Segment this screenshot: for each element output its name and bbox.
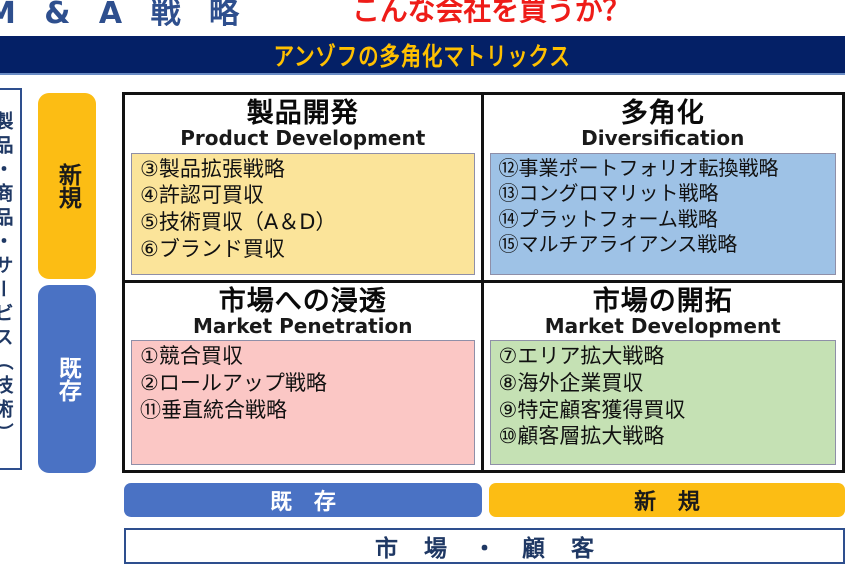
quadrant-title-en: Product Development [180, 128, 425, 150]
list-item: ⑭プラットフォーム戦略 [499, 207, 832, 232]
list-item: ⑦エリア拡大戦略 [499, 343, 832, 370]
quadrant-strategy-list: ⑦エリア拡大戦略 ⑧海外企業買収 ⑨特定顧客獲得買収 ⑩顧客層拡大戦略 [490, 340, 837, 465]
row-pill-existing-label: 既存 [55, 356, 80, 402]
quadrant-market-development: 市場の開拓 Market Development ⑦エリア拡大戦略 ⑧海外企業買… [484, 283, 843, 471]
quadrant-strategy-list: ①競合買収 ②ロールアップ戦略 ⑪垂直統合戦略 [131, 340, 475, 465]
list-item: ⑬コングロマリット戦略 [499, 181, 832, 206]
quadrant-title-jp: 市場の開拓 [593, 287, 733, 317]
list-item: ⑧海外企業買収 [499, 370, 832, 397]
slide-title-main: M & A 戦 略 [0, 0, 248, 32]
y-axis-label-text: 製品・商品・サービス（技術） [0, 111, 12, 447]
quadrant-market-penetration: 市場への浸透 Market Penetration ①競合買収 ②ロールアップ戦… [125, 283, 484, 471]
row-pill-new-label: 新規 [55, 163, 80, 209]
header-band: アンゾフの多角化マトリックス [0, 36, 845, 75]
row-pill-new: 新規 [38, 93, 96, 279]
y-axis-label-box: 製品・商品・サービス（技術） [0, 88, 22, 470]
row-pill-existing: 既存 [38, 285, 96, 473]
list-item: ③製品拡張戦略 [140, 156, 470, 183]
quadrant-title-en: Market Penetration [193, 316, 412, 338]
header-band-title: アンゾフの多角化マトリックス [274, 37, 571, 73]
quadrant-diversification: 多角化 Diversification ⑫事業ポートフォリオ転換戦略 ⑬コングロ… [484, 95, 843, 283]
quadrant-title-jp: 製品開発 [247, 99, 359, 129]
ansoff-matrix: 製品開発 Product Development ③製品拡張戦略 ④許認可買収 … [122, 92, 845, 473]
x-axis-label-box: 市 場 ・ 顧 客 [124, 528, 845, 564]
list-item: ⑪垂直統合戦略 [140, 397, 470, 424]
quadrant-strategy-list: ⑫事業ポートフォリオ転換戦略 ⑬コングロマリット戦略 ⑭プラットフォーム戦略 ⑮… [490, 153, 837, 275]
list-item: ⑨特定顧客獲得買収 [499, 397, 832, 424]
list-item: ①競合買収 [140, 343, 470, 370]
quadrant-title-jp: 多角化 [621, 99, 705, 129]
list-item: ⑮マルチアライアンス戦略 [499, 232, 832, 257]
quadrant-title-jp: 市場への浸透 [219, 287, 387, 317]
list-item: ②ロールアップ戦略 [140, 370, 470, 397]
col-pill-existing: 既 存 [124, 483, 482, 517]
x-axis-label-text: 市 場 ・ 顧 客 [366, 529, 603, 563]
quadrant-product-development: 製品開発 Product Development ③製品拡張戦略 ④許認可買収 … [125, 95, 484, 283]
list-item: ⑩顧客層拡大戦略 [499, 423, 832, 450]
quadrant-strategy-list: ③製品拡張戦略 ④許認可買収 ⑤技術買収（A＆D） ⑥ブランド買収 [131, 153, 475, 275]
slide-title-row: M & A 戦 略 こんな会社を買うか？ [0, 0, 845, 34]
list-item: ⑥ブランド買収 [140, 236, 470, 263]
col-pill-new: 新 規 [489, 483, 845, 517]
slide-title-sub: こんな会社を買うか？ [352, 0, 630, 29]
list-item: ④許認可買収 [140, 182, 470, 209]
quadrant-title-en: Diversification [581, 128, 744, 150]
list-item: ⑤技術買収（A＆D） [140, 209, 470, 236]
quadrant-title-en: Market Development [545, 316, 781, 338]
list-item: ⑫事業ポートフォリオ転換戦略 [499, 156, 832, 181]
